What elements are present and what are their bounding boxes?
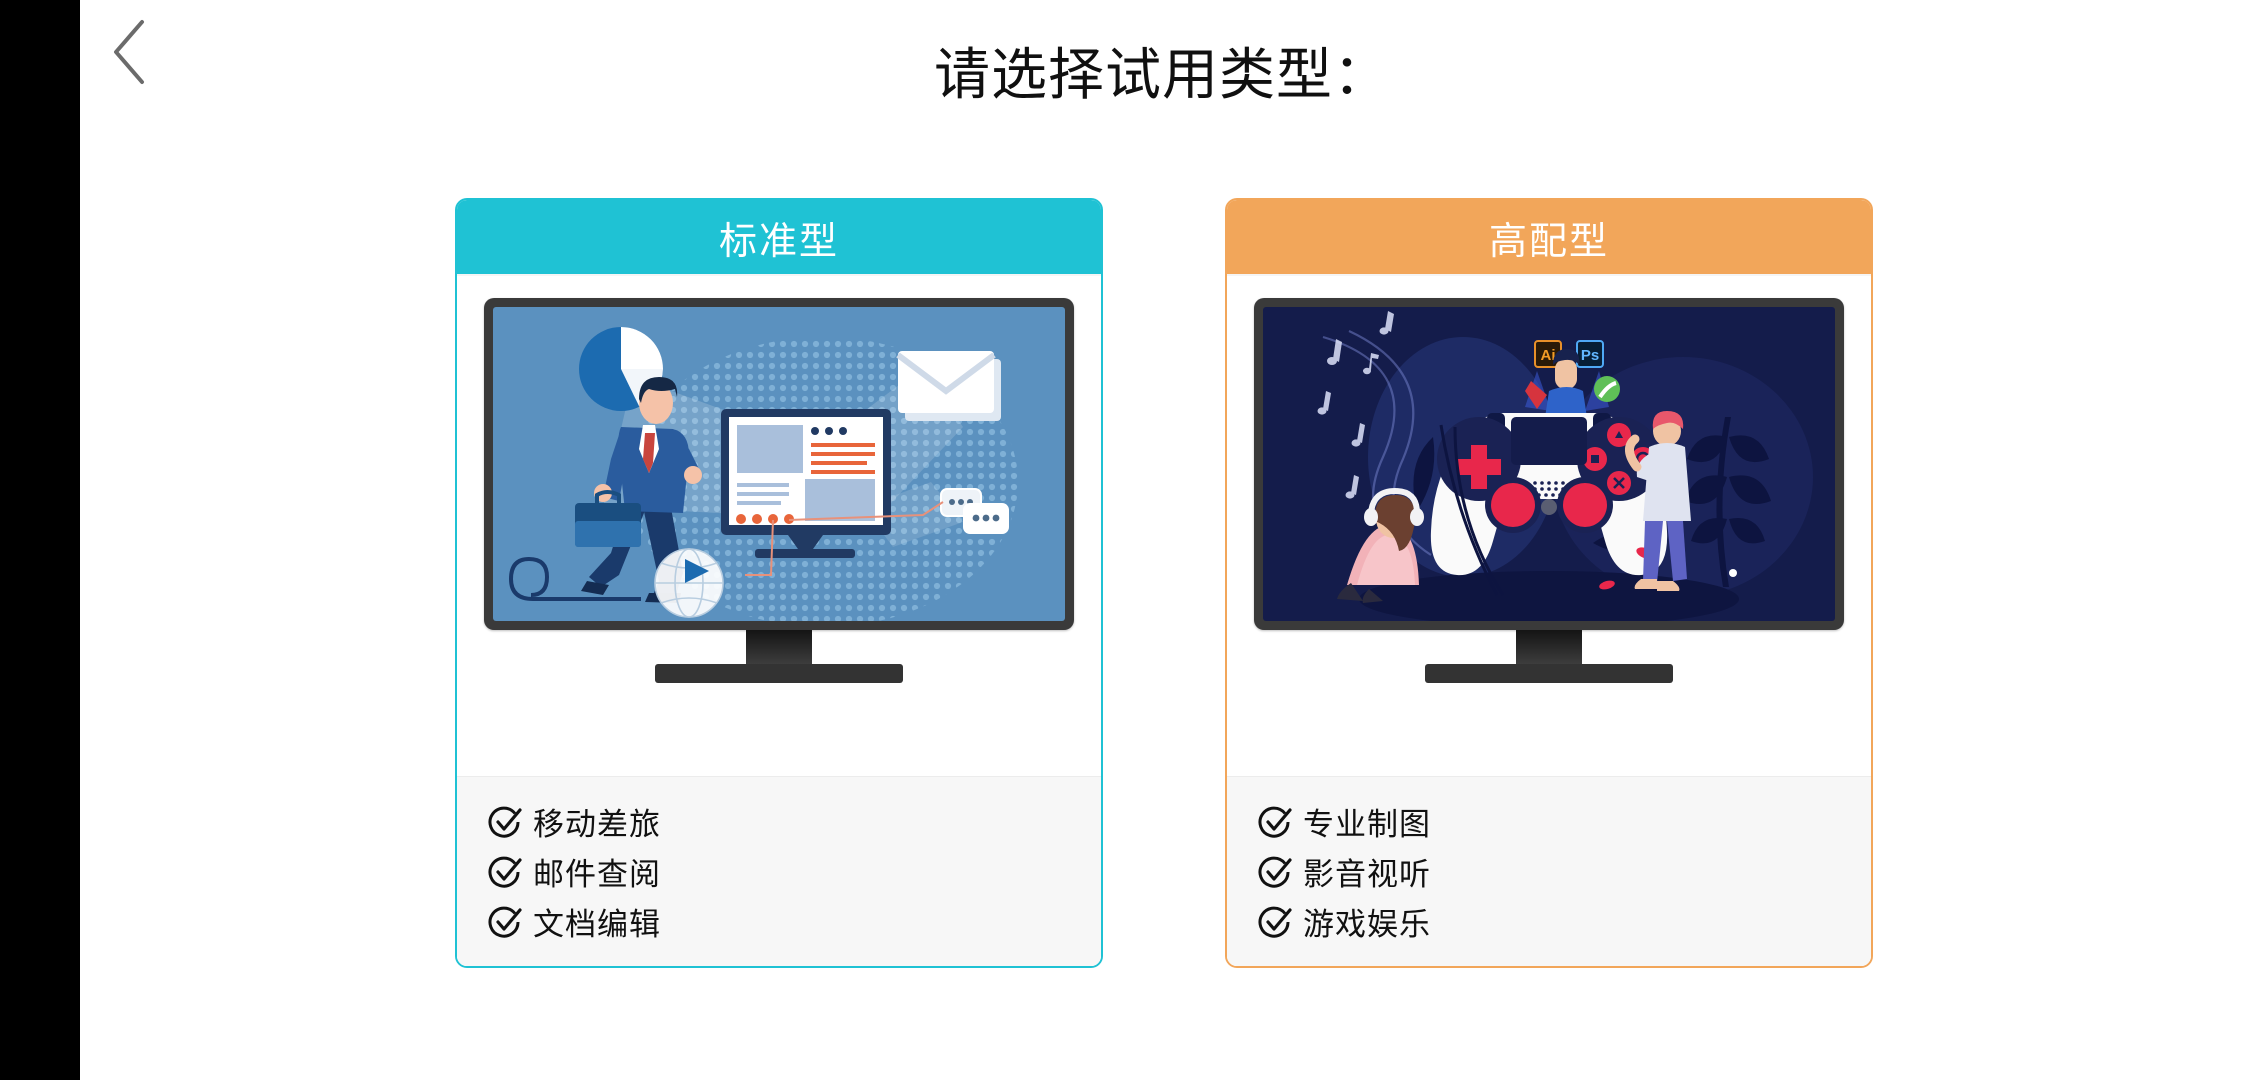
monitor-neck (746, 630, 812, 664)
card-title-premium: 高配型 (1227, 200, 1871, 274)
monitor-premium: Ai Ps (1254, 298, 1844, 683)
gaming-multimedia-illustration: Ai Ps (1263, 307, 1835, 621)
monitor-neck (1516, 630, 1582, 664)
list-item: 文档编辑 (487, 899, 1101, 949)
check-circle-icon (1257, 904, 1293, 945)
card-body-standard: 移动差旅 邮件查阅 (457, 274, 1101, 966)
check-circle-icon (1257, 804, 1293, 845)
feature-label: 影音视听 (1303, 859, 1431, 890)
app-screen: 请选择试用类型： 标准型 (0, 0, 2244, 1080)
feature-label: 文档编辑 (533, 909, 661, 940)
monitor-base (655, 664, 903, 683)
feature-label: 邮件查阅 (533, 859, 661, 890)
check-circle-icon (487, 804, 523, 845)
check-circle-icon (487, 854, 523, 895)
trial-option-premium[interactable]: 高配型 (1225, 198, 1873, 968)
office-productivity-illustration (493, 307, 1065, 621)
check-circle-icon (1257, 854, 1293, 895)
page-title: 请选择试用类型： (80, 44, 2244, 106)
list-item: 专业制图 (1257, 799, 1871, 849)
system-left-bar (0, 0, 80, 1080)
monitor-base (1425, 664, 1673, 683)
card-body-premium: Ai Ps (1227, 274, 1871, 966)
feature-list-standard: 移动差旅 邮件查阅 (457, 776, 1101, 966)
list-item: 游戏娱乐 (1257, 899, 1871, 949)
check-circle-icon (487, 904, 523, 945)
feature-label: 专业制图 (1303, 809, 1431, 840)
list-item: 移动差旅 (487, 799, 1101, 849)
monitor-frame: Ai Ps (1254, 298, 1844, 630)
card-title-standard: 标准型 (457, 200, 1101, 274)
feature-label: 游戏娱乐 (1303, 909, 1431, 940)
svg-text:Ps: Ps (1581, 347, 1599, 364)
trial-type-options: 标准型 (80, 198, 2244, 968)
list-item: 邮件查阅 (487, 849, 1101, 899)
feature-list-premium: 专业制图 影音视听 (1227, 776, 1871, 966)
monitor-frame (484, 298, 1074, 630)
list-item: 影音视听 (1257, 849, 1871, 899)
trial-option-standard[interactable]: 标准型 (455, 198, 1103, 968)
monitor-standard (484, 298, 1074, 683)
feature-label: 移动差旅 (533, 809, 661, 840)
